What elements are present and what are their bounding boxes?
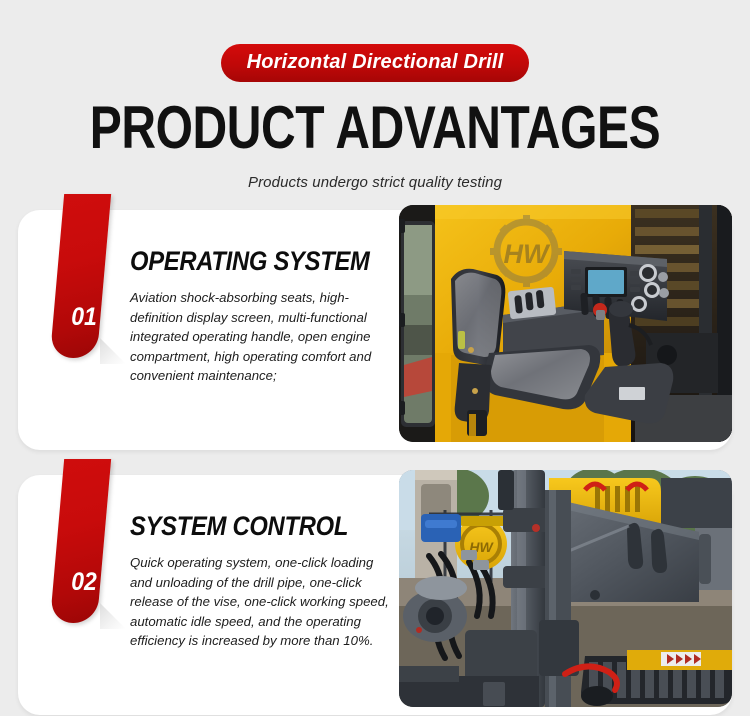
- product-photo-system-control: HW: [399, 470, 732, 707]
- advantage-card-2: 02 SYSTEM CONTROL Quick operating system…: [18, 475, 732, 715]
- card-number: 01: [61, 303, 107, 332]
- card-description: Aviation shock-absorbing seats, high-def…: [130, 288, 398, 386]
- drill-rig-illustration: HW: [399, 470, 732, 707]
- ribbon-fold-shadow: [100, 603, 126, 629]
- card-description: Quick operating system, one-click loadin…: [130, 553, 398, 651]
- advantage-card-1: 01 OPERATING SYSTEM Aviation shock-absor…: [18, 210, 732, 450]
- svg-text:HW: HW: [504, 239, 551, 269]
- cab-illustration: HW: [399, 205, 732, 442]
- card-text-block: SYSTEM CONTROL Quick operating system, o…: [130, 513, 398, 651]
- number-ribbon: [50, 194, 111, 358]
- product-photo-operating-system: HW: [399, 205, 732, 442]
- card-number: 02: [61, 568, 107, 597]
- page-subtitle: Products undergo strict quality testing: [0, 174, 750, 191]
- ribbon-fold-shadow: [100, 338, 126, 364]
- number-ribbon: [50, 459, 111, 623]
- card-title: OPERATING SYSTEM: [130, 248, 366, 275]
- card-text-block: OPERATING SYSTEM Aviation shock-absorbin…: [130, 248, 398, 386]
- card-title: SYSTEM CONTROL: [130, 513, 366, 540]
- page-header: Horizontal Directional Drill PRODUCT ADV…: [0, 0, 750, 191]
- category-badge: Horizontal Directional Drill: [221, 44, 530, 82]
- page-title: PRODUCT ADVANTAGES: [75, 98, 675, 158]
